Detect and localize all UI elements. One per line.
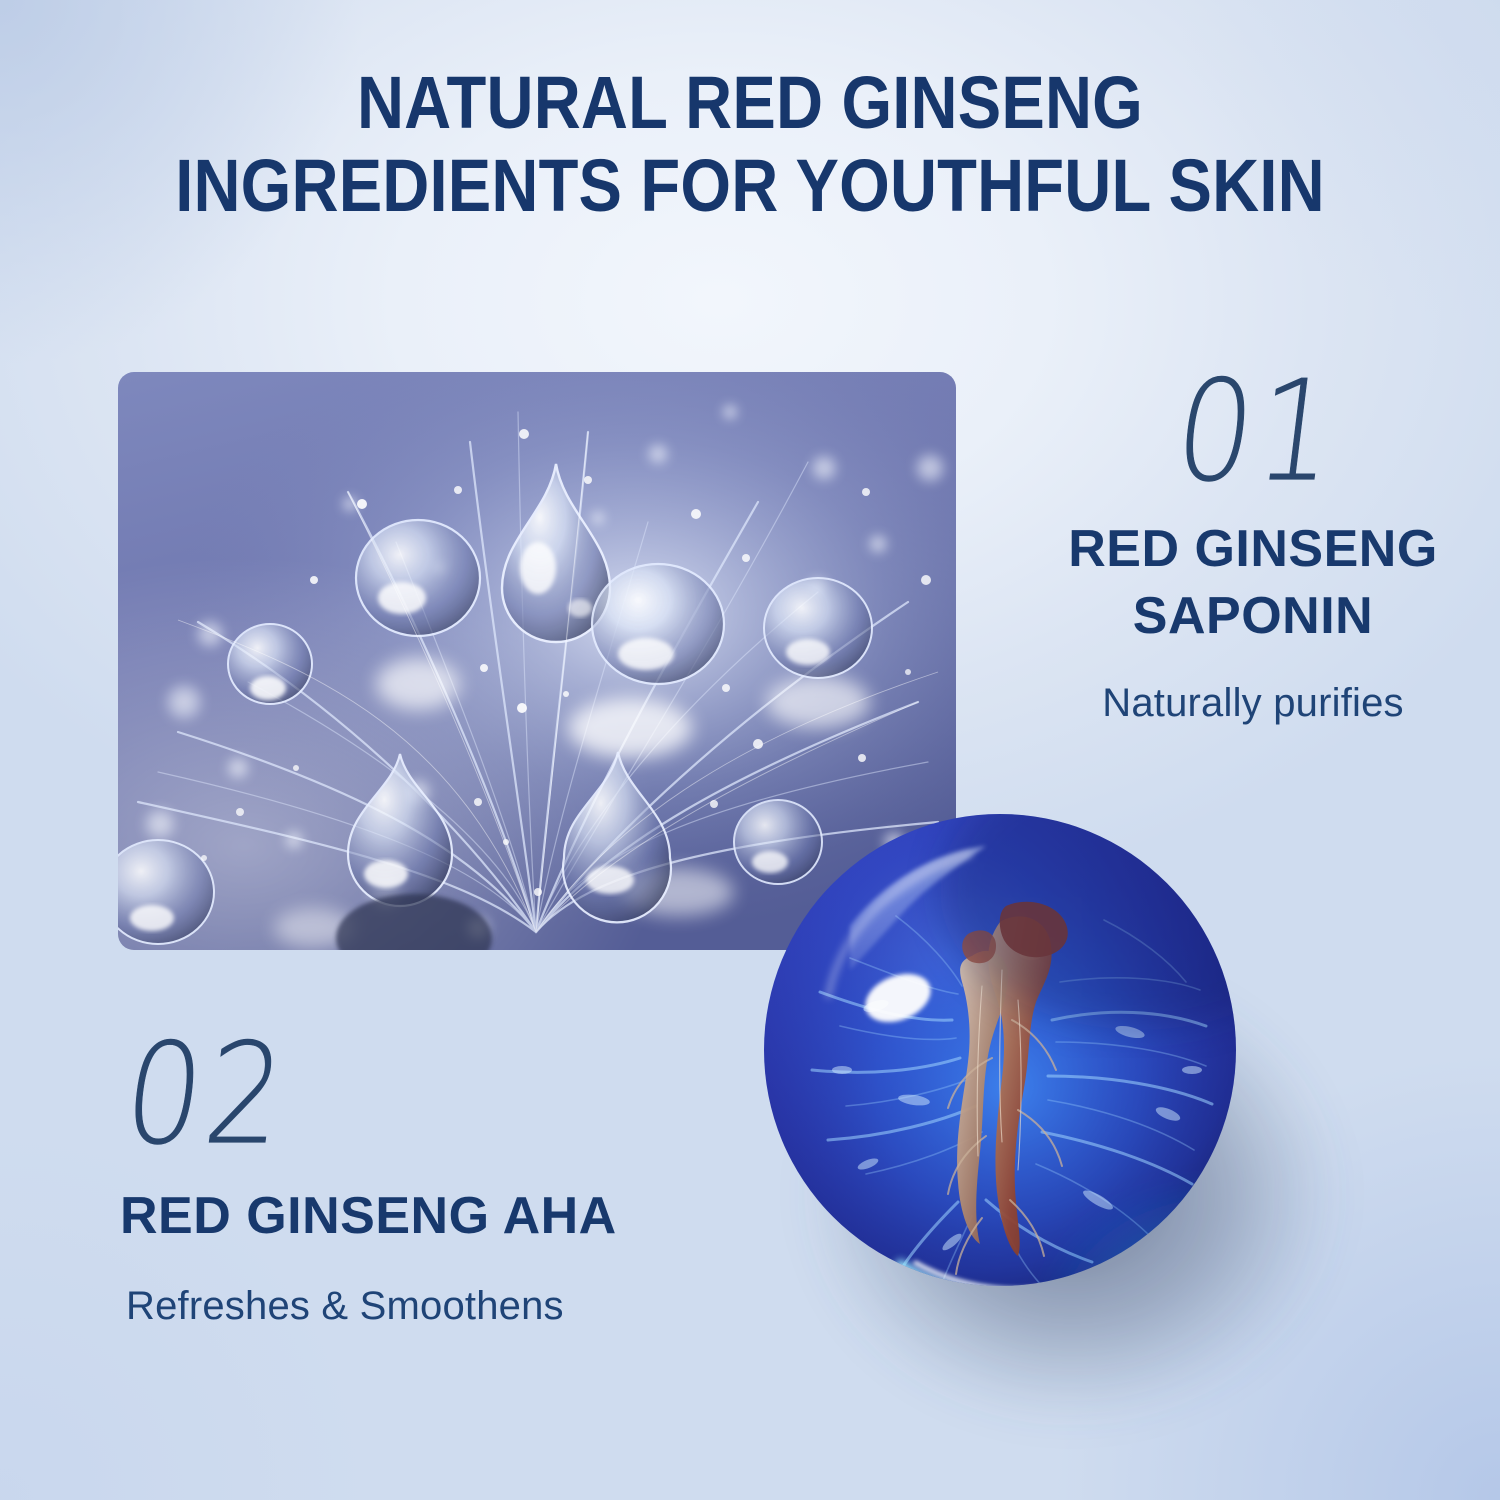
blue-ginseng-gel-sphere xyxy=(700,770,1320,1390)
feature-title-01: RED GINSENG SAPONIN xyxy=(1018,516,1488,649)
page-title-line-2: INGREDIENTS FOR YOUTHFUL SKIN xyxy=(90,145,1410,228)
feature-block-01: 01 RED GINSENG SAPONIN Naturally purifie… xyxy=(1018,372,1488,729)
page-title: NATURAL RED GINSENG INGREDIENTS FOR YOUT… xyxy=(0,62,1500,228)
feature-block-02: 02 RED GINSENG AHA Refreshes & Smoothens xyxy=(120,1035,740,1332)
feature-subtitle-02: Refreshes & Smoothens xyxy=(126,1280,740,1332)
feature-number-01: 01 xyxy=(1168,361,1346,500)
feature-number-02: 02 xyxy=(117,1024,295,1163)
infographic-canvas: NATURAL RED GINSENG INGREDIENTS FOR YOUT… xyxy=(0,0,1500,1500)
page-title-line-1: NATURAL RED GINSENG xyxy=(90,62,1410,145)
ginseng-sphere-artwork xyxy=(700,770,1320,1390)
feature-title-02: RED GINSENG AHA xyxy=(120,1183,740,1250)
feature-subtitle-01: Naturally purifies xyxy=(1018,677,1488,729)
